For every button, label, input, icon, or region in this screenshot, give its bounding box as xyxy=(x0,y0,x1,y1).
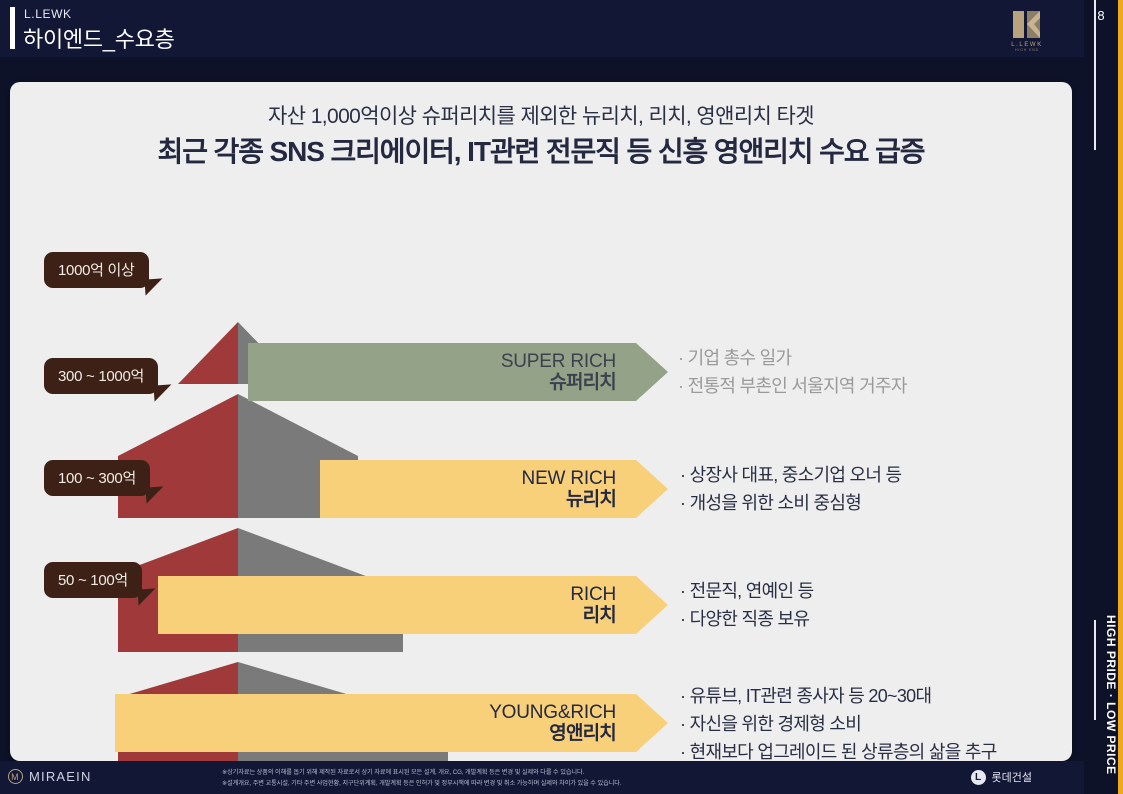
lotte-logo-icon: L xyxy=(971,770,986,785)
bullet-item: · 전통적 부촌인 서울지역 거주자 xyxy=(678,373,907,401)
band-label-ko-4: 영앤리치 xyxy=(489,723,616,744)
bullet-item: · 개성을 위한 소비 중심형 xyxy=(680,490,901,518)
bullets-super-rich: · 기업 총수 일가 · 전통적 부촌인 서울지역 거주자 xyxy=(678,345,907,401)
tag-tail-icon xyxy=(153,384,172,401)
band-label-ko-2: 뉴리치 xyxy=(522,489,616,510)
footer-brand-name: MIRAEIN xyxy=(29,769,92,784)
slide-headline: 최근 각종 SNS 크리에이터, IT관련 전문직 등 신흥 영앤리치 수요 급… xyxy=(10,130,1072,170)
slide-root: L.LEWK 하이엔드_수요층 L.LEWK HIGH END 8 HIGH P… xyxy=(0,0,1123,794)
bullets-rich: · 전문직, 연예인 등 · 다양한 직종 보유 xyxy=(680,578,814,634)
amount-tag-label-2: 300 ~ 1000억 xyxy=(58,368,144,385)
amount-tag-label-1: 1000억 이상 xyxy=(58,262,135,279)
content-card: 자산 1,000억이상 슈퍼리치를 제외한 뉴리치, 리치, 영앤리치 타겟 최… xyxy=(10,82,1072,761)
amount-tag-1: 1000억 이상 xyxy=(44,252,149,288)
band-label-ko-1: 슈퍼리치 xyxy=(501,372,616,393)
band-labels-3: RICH 리치 xyxy=(570,584,616,627)
rail-gold-stripe xyxy=(1118,0,1123,794)
tag-tail-icon xyxy=(145,486,164,503)
footer-disclaimer: ※상기자료는 상품의 이해를 돕기 위해 제작된 자료로서 상기 자료에 표시된… xyxy=(222,767,622,790)
tag-tail-icon xyxy=(137,588,156,605)
header-eyebrow: L.LEWK xyxy=(24,7,72,21)
bullet-item: · 현재보다 업그레이드 된 상류층의 삶을 추구 xyxy=(680,739,997,761)
band-super-rich[interactable]: SUPER RICH 슈퍼리치 xyxy=(248,343,668,401)
slide-footer: M MIRAEIN ※상기자료는 상품의 이해를 돕기 위해 제작된 자료로서 … xyxy=(0,761,1084,794)
logo-subtext: HIGH END xyxy=(1015,48,1039,52)
footer-brand: M MIRAEIN xyxy=(8,769,92,784)
llewk-logo-icon xyxy=(1010,10,1044,40)
disclaimer-line-1: ※상기자료는 상품의 이해를 돕기 위해 제작된 자료로서 상기 자료에 표시된… xyxy=(222,767,622,778)
bullets-new-rich: · 상장사 대표, 중소기업 오너 등 · 개성을 위한 소비 중심형 xyxy=(680,462,901,518)
rail-tagline: HIGH PRIDE · LOW PRICE xyxy=(1084,615,1118,775)
band-young-rich[interactable]: YOUNG&RICH 영앤리치 xyxy=(115,694,668,752)
band-labels-1: SUPER RICH 슈퍼리치 xyxy=(501,351,616,394)
slide-header: L.LEWK 하이엔드_수요층 L.LEWK HIGH END xyxy=(0,0,1084,57)
disclaimer-line-2: ※설계개요, 주변 교통시설, 기타 주변 사업현황, 지구단위계획, 개발계획… xyxy=(222,778,622,789)
right-rail: 8 HIGH PRIDE · LOW PRICE xyxy=(1084,0,1123,794)
miraein-logo-icon: M xyxy=(8,769,23,784)
band-label-en-2: NEW RICH xyxy=(522,468,616,489)
band-label-en-4: YOUNG&RICH xyxy=(489,702,616,723)
page-title: 하이엔드_수요층 xyxy=(23,22,175,54)
amount-tag-label-3: 100 ~ 300억 xyxy=(58,470,136,487)
brand-logo: L.LEWK HIGH END xyxy=(1000,8,1054,54)
band-label-ko-3: 리치 xyxy=(570,605,616,626)
tag-tail-icon xyxy=(144,278,163,295)
band-rich[interactable]: RICH 리치 xyxy=(158,576,668,634)
band-labels-4: YOUNG&RICH 영앤리치 xyxy=(489,702,616,745)
bullet-item: · 기업 총수 일가 xyxy=(678,345,907,373)
footer-partner-name: 롯데건설 xyxy=(992,769,1032,785)
amount-tag-4: 50 ~ 100억 xyxy=(44,562,142,598)
band-label-en-1: SUPER RICH xyxy=(501,351,616,372)
amount-tag-3: 100 ~ 300억 xyxy=(44,460,150,496)
slide-subtitle: 자산 1,000억이상 슈퍼리치를 제외한 뉴리치, 리치, 영앤리치 타겟 xyxy=(10,100,1072,130)
bullet-item: · 전문직, 연예인 등 xyxy=(680,578,814,606)
footer-partner: L 롯데건설 xyxy=(971,769,1032,785)
bullet-item: · 유튜브, IT관련 종사자 등 20~30대 xyxy=(680,683,997,711)
bullet-item: · 자신을 위한 경제형 소비 xyxy=(680,711,997,739)
amount-tag-label-4: 50 ~ 100억 xyxy=(58,572,128,589)
band-label-en-3: RICH xyxy=(570,584,616,605)
band-new-rich[interactable]: NEW RICH 뉴리치 xyxy=(320,460,668,518)
bullet-item: · 상장사 대표, 중소기업 오너 등 xyxy=(680,462,901,490)
bullet-item: · 다양한 직종 보유 xyxy=(680,606,814,634)
header-accent-bar xyxy=(10,7,15,49)
page-number: 8 xyxy=(1084,8,1118,23)
amount-tag-2: 300 ~ 1000억 xyxy=(44,358,158,394)
band-labels-2: NEW RICH 뉴리치 xyxy=(522,468,616,511)
bullets-young-rich: · 유튜브, IT관련 종사자 등 20~30대 · 자신을 위한 경제형 소비… xyxy=(680,683,997,761)
